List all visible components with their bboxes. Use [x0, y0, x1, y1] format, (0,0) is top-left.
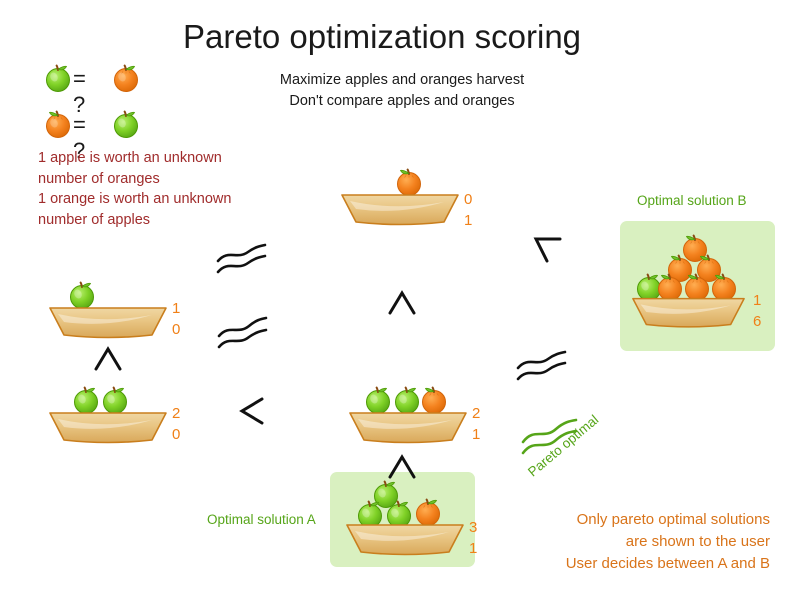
- orange-note-line-2: are shown to the user: [470, 530, 770, 553]
- score-oranges: 0: [172, 424, 180, 445]
- less-than-symbol: [237, 395, 267, 427]
- basket-icon: [48, 306, 168, 345]
- subtitle-line-2: Don't compare apples and oranges: [262, 91, 542, 112]
- score-apples: 1: [753, 290, 761, 311]
- basket-icon: [48, 411, 168, 450]
- orange-icon: [42, 107, 74, 139]
- score-oranges: 1: [472, 424, 480, 445]
- score-apples: 2: [472, 403, 480, 424]
- red-note-line-4: number of apples: [38, 210, 150, 232]
- dominates-symbol: [386, 452, 418, 480]
- score-oranges: 1: [464, 210, 472, 231]
- score-oranges: 6: [753, 311, 761, 332]
- dominates-symbol: [386, 288, 418, 316]
- basket-icon: [348, 411, 468, 450]
- incomparable-symbol: [215, 243, 277, 275]
- label-optimal-solution-a: Optimal solution A: [207, 512, 316, 527]
- score-oranges: 0: [172, 319, 180, 340]
- orange-icon: [110, 61, 142, 93]
- dominates-symbol: [92, 344, 124, 372]
- subtitle-line-1: Maximize apples and oranges harvest: [262, 70, 542, 91]
- diagram-canvas: Pareto optimization scoring Maximize app…: [0, 0, 800, 600]
- dominated-symbol: [531, 235, 565, 267]
- incomparable-symbol: [216, 315, 278, 349]
- score-apples: 1: [172, 298, 180, 319]
- basket-icon: [345, 523, 465, 562]
- label-optimal-solution-b: Optimal solution B: [637, 193, 747, 208]
- score-apples: 0: [464, 189, 472, 210]
- orange-note-line-3: User decides between A and B: [470, 552, 770, 575]
- red-note-line-3: 1 orange is worth an unknown: [38, 189, 231, 211]
- incomparable-symbol: [515, 350, 577, 382]
- basket-icon: [631, 296, 746, 335]
- red-note-line-2: number of oranges: [38, 169, 160, 191]
- legend-equals-unknown-1: = ?: [73, 66, 86, 118]
- red-note-line-1: 1 apple is worth an unknown: [38, 148, 222, 170]
- apple-icon: [110, 107, 142, 139]
- apple-icon: [42, 61, 74, 93]
- page-title: Pareto optimization scoring: [183, 18, 581, 56]
- basket-icon: [340, 193, 460, 232]
- orange-note-line-1: Only pareto optimal solutions: [470, 508, 770, 531]
- score-apples: 2: [172, 403, 180, 424]
